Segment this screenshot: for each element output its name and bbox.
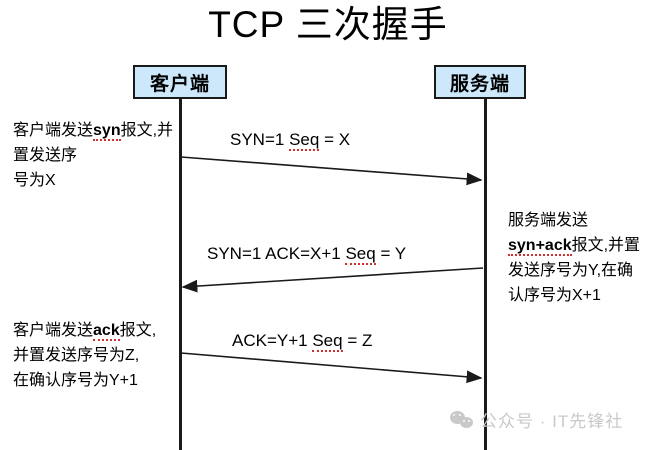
- message-3-plain: ACK=Y+1: [232, 331, 308, 350]
- message-label-2: SYN=1 ACK=X+1 Seq = Y: [207, 243, 406, 265]
- arrow-msg-2: [183, 268, 483, 287]
- message-1-plain: SYN=1: [230, 130, 284, 149]
- note-client-ack-marked: ack: [93, 322, 120, 341]
- note-server-synack: 服务端发送 syn+ack报文,并置 发送序号为Y,在确 认序号为X+1: [508, 208, 656, 308]
- note-server-synack-lead: 服务端发送: [508, 212, 588, 229]
- note-client-syn-marked: syn: [93, 122, 121, 141]
- watermark-text: 公众号 · IT先锋社: [480, 407, 623, 432]
- message-label-1: SYN=1 Seq = X: [230, 129, 350, 151]
- message-1-tail: = X: [324, 130, 350, 149]
- message-3-tail: = Z: [347, 331, 372, 350]
- message-2-plain: SYN=1 ACK=X+1: [207, 244, 341, 263]
- message-label-3: ACK=Y+1 Seq = Z: [232, 330, 372, 352]
- note-client-ack-lead: 客户端发送: [13, 322, 93, 339]
- arrow-msg-3: [181, 353, 481, 378]
- message-2-tail: = Y: [380, 244, 406, 263]
- watermark: 公众号 · IT先锋社: [450, 407, 623, 432]
- message-3-marked: Seq: [312, 331, 342, 352]
- note-server-synack-marked: syn+ack: [508, 237, 572, 256]
- diagram-canvas: TCP 三次握手 客户端 服务端 SYN=1 Seq = X SYN=1 ACK…: [0, 0, 656, 450]
- message-1-marked: Seq: [289, 130, 319, 151]
- note-client-syn-lead: 客户端发送: [13, 122, 93, 139]
- arrow-msg-1: [181, 157, 481, 180]
- note-client-ack: 客户端发送ack报文, 并置发送序号为Z, 在确认序号为Y+1: [13, 318, 183, 393]
- message-2-marked: Seq: [345, 244, 375, 265]
- wechat-icon: [450, 410, 474, 430]
- note-client-syn: 客户端发送syn报文,并置发送序 号为X: [13, 118, 178, 193]
